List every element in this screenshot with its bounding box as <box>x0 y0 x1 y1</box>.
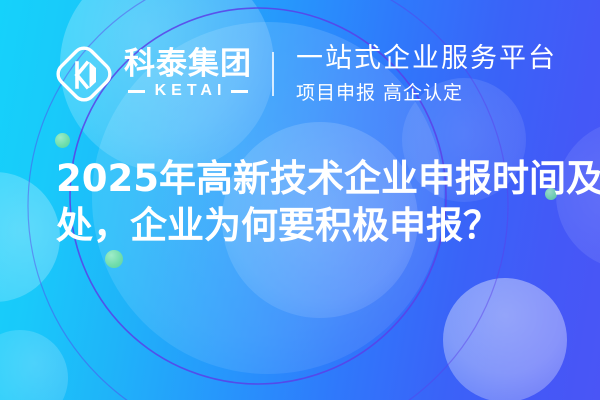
slogan-main: 一站式企业服务平台 <box>296 43 557 75</box>
banner-header: 科泰集团 KETAI 一站式企业服务平台 项目申报 高企认定 <box>0 26 600 122</box>
headline-line-1: 2025年高新技术企业申报时间及好 <box>56 155 570 202</box>
decor-dot-green-1 <box>55 133 70 148</box>
logo-rule-right <box>231 90 248 93</box>
brand-name-en: KETAI <box>150 82 227 100</box>
ketai-diamond-logo-icon <box>52 42 116 106</box>
header-divider <box>272 52 274 96</box>
decor-circle-bottom-left <box>0 172 60 302</box>
headline: 2025年高新技术企业申报时间及好 处，企业为何要积极申报？ <box>56 155 570 249</box>
slogan-sub: 项目申报 高企认定 <box>296 78 557 105</box>
slogan-block: 一站式企业服务平台 项目申报 高企认定 <box>296 43 557 106</box>
brand-logo[interactable]: 科泰集团 KETAI <box>52 42 252 106</box>
decor-circle-bottom-left-2 <box>0 330 68 400</box>
brand-logo-text: 科泰集团 KETAI <box>124 48 252 101</box>
headline-line-2: 处，企业为何要积极申报？ <box>56 202 570 249</box>
decor-dot-green-2 <box>105 250 123 268</box>
brand-name-en-row: KETAI <box>128 82 249 100</box>
brand-name-cn: 科泰集团 <box>124 48 252 81</box>
decor-circle-bottom-right <box>443 278 567 400</box>
promo-banner: 科泰集团 KETAI 一站式企业服务平台 项目申报 高企认定 2025年高新技术… <box>0 0 600 400</box>
logo-rule-left <box>128 90 145 93</box>
